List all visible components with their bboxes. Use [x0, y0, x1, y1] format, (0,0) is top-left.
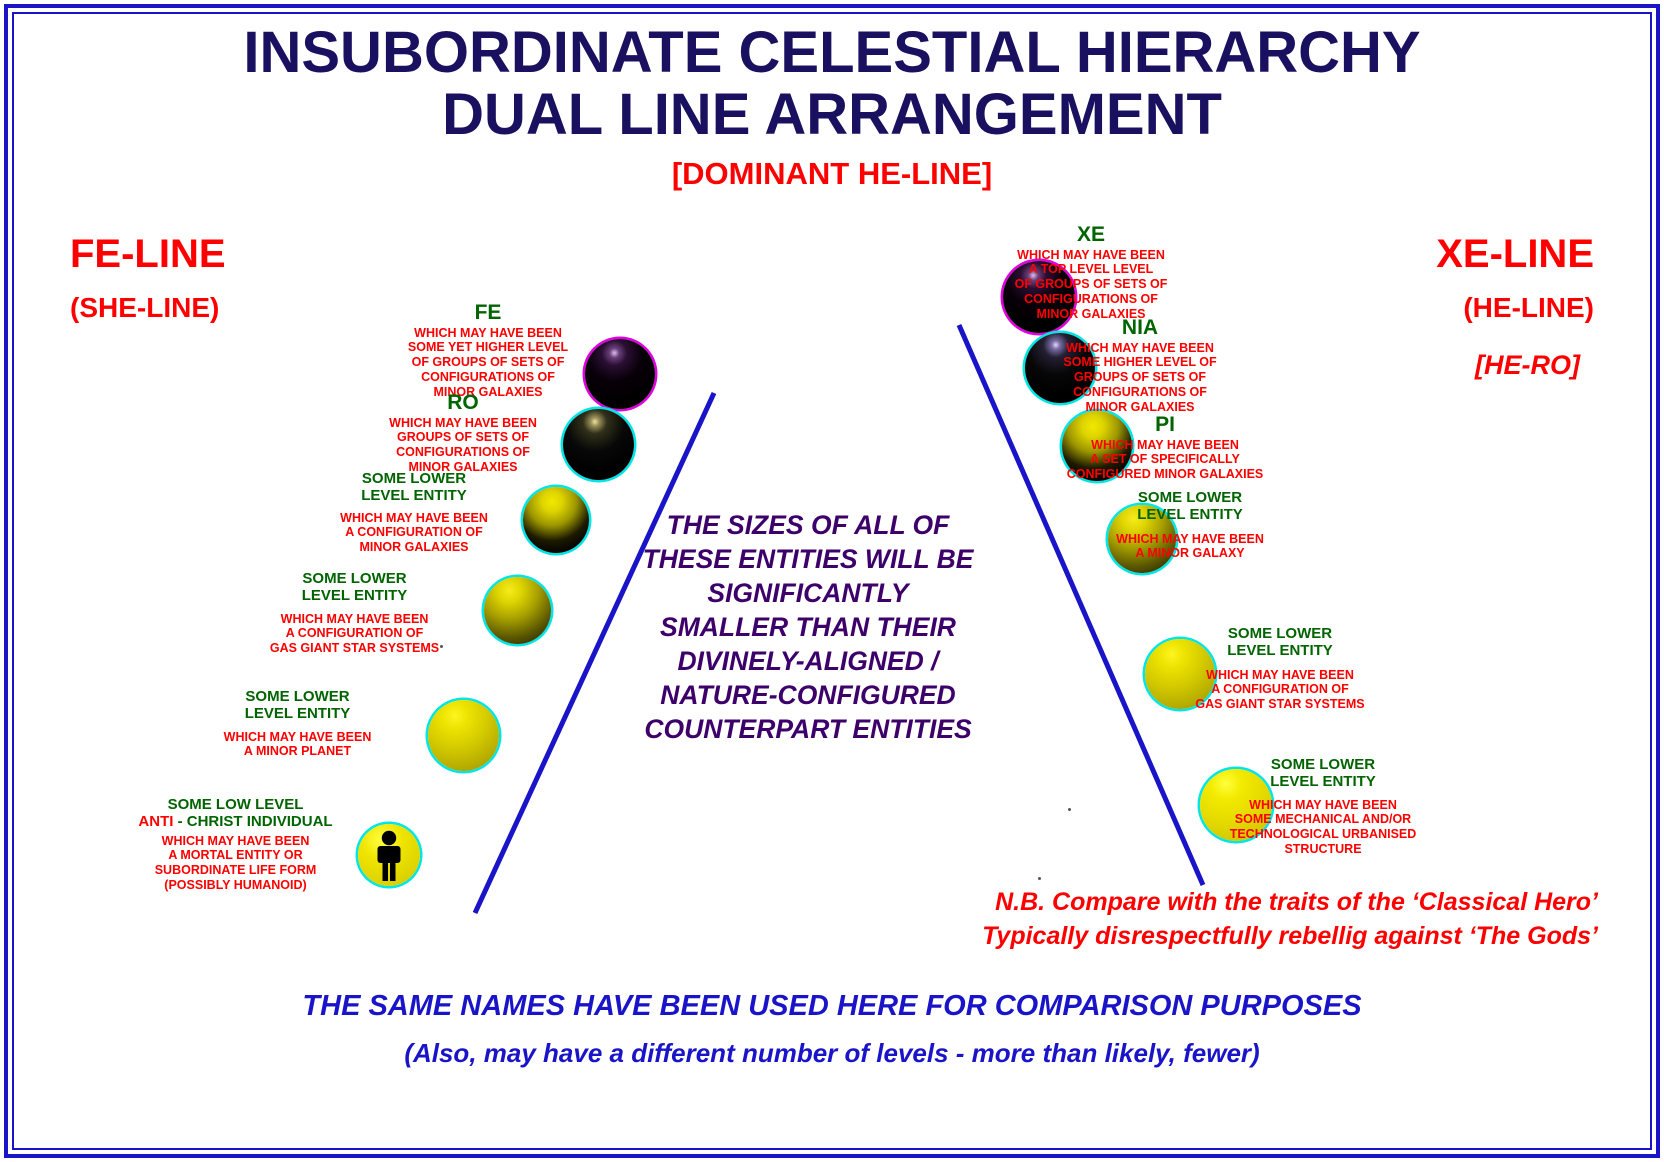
- entity-name-anti: ANTI: [138, 813, 173, 830]
- entity-desc-pi: WHICH MAY HAVE BEENA SET OF SPECIFICALLY…: [1060, 438, 1270, 482]
- xe-line-hero-tag: [HE-RO]: [1475, 350, 1580, 381]
- nb-note: N.B. Compare with the traits of the ‘Cla…: [982, 885, 1598, 953]
- entity-label-xe: XE WHICH MAY HAVE BEENA TOP LEVEL LEVELO…: [1000, 224, 1182, 321]
- entity-sphere-left-3: [523, 487, 589, 553]
- footer-line2: (Also, may have a different number of le…: [0, 1033, 1664, 1073]
- stray-dot-3: [1038, 877, 1041, 880]
- entity-desc-ro: WHICH MAY HAVE BEENGROUPS OF SETS OFCONF…: [372, 416, 554, 475]
- entity-sphere-left-4: [484, 577, 551, 644]
- entity-sphere-fe: [585, 339, 655, 409]
- entity-name-pi: PI: [1060, 414, 1270, 437]
- page-subtitle: [DOMINANT HE-LINE]: [0, 154, 1664, 194]
- entity-label-left-4: SOME LOWERLEVEL ENTITY WHICH MAY HAVE BE…: [262, 570, 447, 656]
- entity-sphere-left-5: [428, 700, 499, 771]
- entity-name-nia: NIA: [1050, 317, 1230, 340]
- entity-name-anti-christ-row: ANTI - CHRIST INDIVIDUAL: [128, 813, 343, 830]
- entity-name-xe: XE: [1000, 224, 1182, 247]
- footer-block: THE SAME NAMES HAVE BEEN USED HERE FOR C…: [0, 985, 1664, 1073]
- entity-sphere-ro: [563, 409, 634, 480]
- entity-name-left-3: SOME LOWERLEVEL ENTITY: [325, 470, 503, 505]
- human-figure-icon: [358, 824, 420, 886]
- entity-name-right-4: SOME LOWERLEVEL ENTITY: [1100, 489, 1280, 524]
- fe-line-title: FE-LINE: [70, 232, 226, 277]
- entity-label-left-5: SOME LOWERLEVEL ENTITY WHICH MAY HAVE BE…: [205, 688, 390, 759]
- page-title-line1: INSUBORDINATE CELESTIAL HIERARCHY: [0, 22, 1664, 84]
- entity-label-fe: FE WHICH MAY HAVE BEENSOME YET HIGHER LE…: [398, 302, 578, 399]
- entity-marker-anti-christ: [358, 824, 420, 886]
- entity-name-left-4: SOME LOWERLEVEL ENTITY: [262, 570, 447, 605]
- entity-name-ro: RO: [372, 392, 554, 415]
- xe-line-subtitle: (HE-LINE): [1463, 292, 1594, 324]
- footer-line1: THE SAME NAMES HAVE BEEN USED HERE FOR C…: [0, 985, 1664, 1027]
- entity-name-right-5: SOME LOWERLEVEL ENTITY: [1185, 625, 1375, 660]
- entity-name-low-level: SOME LOW LEVEL: [128, 796, 343, 813]
- stray-dot-2: [1068, 808, 1071, 811]
- entity-label-nia: NIA WHICH MAY HAVE BEENSOME HIGHER LEVEL…: [1050, 317, 1230, 414]
- entity-desc-left-4: WHICH MAY HAVE BEENA CONFIGURATION OFGAS…: [262, 612, 447, 656]
- entity-label-right-4: SOME LOWERLEVEL ENTITY WHICH MAY HAVE BE…: [1100, 489, 1280, 561]
- title-block: INSUBORDINATE CELESTIAL HIERARCHY DUAL L…: [0, 22, 1664, 194]
- entity-desc-right-4: WHICH MAY HAVE BEENA MINOR GALAXY: [1100, 532, 1280, 562]
- page-title-line2: DUAL LINE ARRANGEMENT: [0, 84, 1664, 146]
- fe-line-subtitle: (SHE-LINE): [70, 292, 219, 324]
- xe-line-title: XE-LINE: [1436, 232, 1594, 277]
- entity-name-fe: FE: [398, 302, 578, 325]
- entity-desc-left-5: WHICH MAY HAVE BEENA MINOR PLANET: [205, 730, 390, 760]
- entity-desc-left-3: WHICH MAY HAVE BEENA CONFIGURATION OFMIN…: [325, 511, 503, 555]
- entity-name-christ: - CHRIST INDIVIDUAL: [178, 813, 333, 830]
- entity-desc-anti-christ: WHICH MAY HAVE BEENA MORTAL ENTITY ORSUB…: [128, 834, 343, 893]
- entity-name-left-5: SOME LOWERLEVEL ENTITY: [205, 688, 390, 723]
- entity-label-right-5: SOME LOWERLEVEL ENTITY WHICH MAY HAVE BE…: [1185, 625, 1375, 712]
- entity-desc-fe: WHICH MAY HAVE BEENSOME YET HIGHER LEVEL…: [398, 326, 578, 400]
- center-note: THE SIZES OF ALL OFTHESE ENTITIES WILL B…: [618, 508, 998, 746]
- diagram-canvas: INSUBORDINATE CELESTIAL HIERARCHY DUAL L…: [0, 0, 1664, 1162]
- entity-desc-nia: WHICH MAY HAVE BEENSOME HIGHER LEVEL OFG…: [1050, 341, 1230, 415]
- stray-dot-1: [440, 645, 443, 648]
- entity-desc-xe: WHICH MAY HAVE BEENA TOP LEVEL LEVELOF G…: [1000, 248, 1182, 322]
- entity-label-pi: PI WHICH MAY HAVE BEENA SET OF SPECIFICA…: [1060, 414, 1270, 482]
- entity-label-right-6: SOME LOWERLEVEL ENTITY WHICH MAY HAVE BE…: [1228, 756, 1418, 857]
- nb-note-line2: Typically disrespectfully rebellig again…: [982, 919, 1598, 953]
- entity-desc-right-6: WHICH MAY HAVE BEENSOME MECHANICAL AND/O…: [1228, 798, 1418, 857]
- nb-note-line1: N.B. Compare with the traits of the ‘Cla…: [982, 885, 1598, 919]
- entity-label-left-3: SOME LOWERLEVEL ENTITY WHICH MAY HAVE BE…: [325, 470, 503, 555]
- entity-name-right-6: SOME LOWERLEVEL ENTITY: [1228, 756, 1418, 791]
- entity-desc-right-5: WHICH MAY HAVE BEENA CONFIGURATION OFGAS…: [1185, 668, 1375, 712]
- entity-label-ro: RO WHICH MAY HAVE BEENGROUPS OF SETS OFC…: [372, 392, 554, 475]
- entity-label-anti-christ: SOME LOW LEVEL ANTI - CHRIST INDIVIDUAL …: [128, 796, 343, 893]
